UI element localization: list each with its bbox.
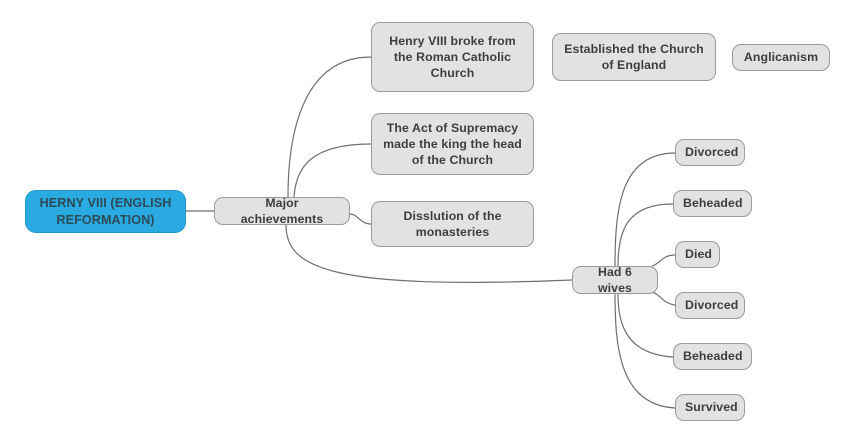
edge-major_achievements-to-dissolution	[350, 214, 371, 224]
edge-had_6_wives-to-wife_6	[615, 294, 675, 408]
node-wife-1-divorced-label: Divorced	[685, 144, 735, 160]
node-church-of-england[interactable]: Established the Church of England	[552, 33, 716, 81]
node-had-6-wives-label: Had 6 wives	[582, 264, 648, 296]
node-wife-2-beheaded[interactable]: Beheaded	[673, 190, 752, 217]
node-broke-from-rome-label: Henry VIII broke from the Roman Catholic…	[381, 33, 524, 82]
edge-had_6_wives-to-wife_1	[615, 153, 675, 266]
node-major-achievements-label: Major achievements	[224, 195, 340, 227]
node-wife-4-divorced[interactable]: Divorced	[675, 292, 745, 319]
node-had-6-wives[interactable]: Had 6 wives	[572, 266, 658, 294]
node-anglicanism[interactable]: Anglicanism	[732, 44, 830, 71]
node-act-of-supremacy-label: The Act of Supremacy made the king the h…	[381, 120, 524, 169]
node-broke-from-rome[interactable]: Henry VIII broke from the Roman Catholic…	[371, 22, 534, 92]
node-anglicanism-label: Anglicanism	[742, 49, 820, 65]
node-wife-2-beheaded-label: Beheaded	[683, 195, 742, 211]
node-wife-6-survived-label: Survived	[685, 399, 735, 415]
edge-major_achievements-to-act_of_supremacy	[294, 144, 371, 197]
node-major-achievements[interactable]: Major achievements	[214, 197, 350, 225]
node-wife-4-divorced-label: Divorced	[685, 297, 735, 313]
edge-major_achievements-to-broke_from_rome	[288, 57, 371, 197]
edge-had_6_wives-to-wife_2	[618, 204, 673, 266]
node-church-of-england-label: Established the Church of England	[562, 41, 706, 73]
node-wife-6-survived[interactable]: Survived	[675, 394, 745, 421]
edge-had_6_wives-to-wife_5	[618, 294, 673, 357]
node-root-label: HERNY VIII (ENGLISH REFORMATION)	[36, 195, 175, 228]
node-root[interactable]: HERNY VIII (ENGLISH REFORMATION)	[25, 190, 186, 233]
node-wife-3-died[interactable]: Died	[675, 241, 720, 268]
node-wife-5-beheaded[interactable]: Beheaded	[673, 343, 752, 370]
node-act-of-supremacy[interactable]: The Act of Supremacy made the king the h…	[371, 113, 534, 175]
mindmap-canvas: HERNY VIII (ENGLISH REFORMATION) Major a…	[0, 0, 848, 448]
node-wife-1-divorced[interactable]: Divorced	[675, 139, 745, 166]
node-dissolution-of-monasteries-label: Disslution of the monasteries	[381, 208, 524, 240]
node-wife-5-beheaded-label: Beheaded	[683, 348, 742, 364]
node-wife-3-died-label: Died	[685, 246, 710, 262]
edge-had_6_wives-to-wife_4	[652, 292, 675, 305]
node-dissolution-of-monasteries[interactable]: Disslution of the monasteries	[371, 201, 534, 247]
edge-had_6_wives-to-wife_3	[652, 255, 675, 266]
